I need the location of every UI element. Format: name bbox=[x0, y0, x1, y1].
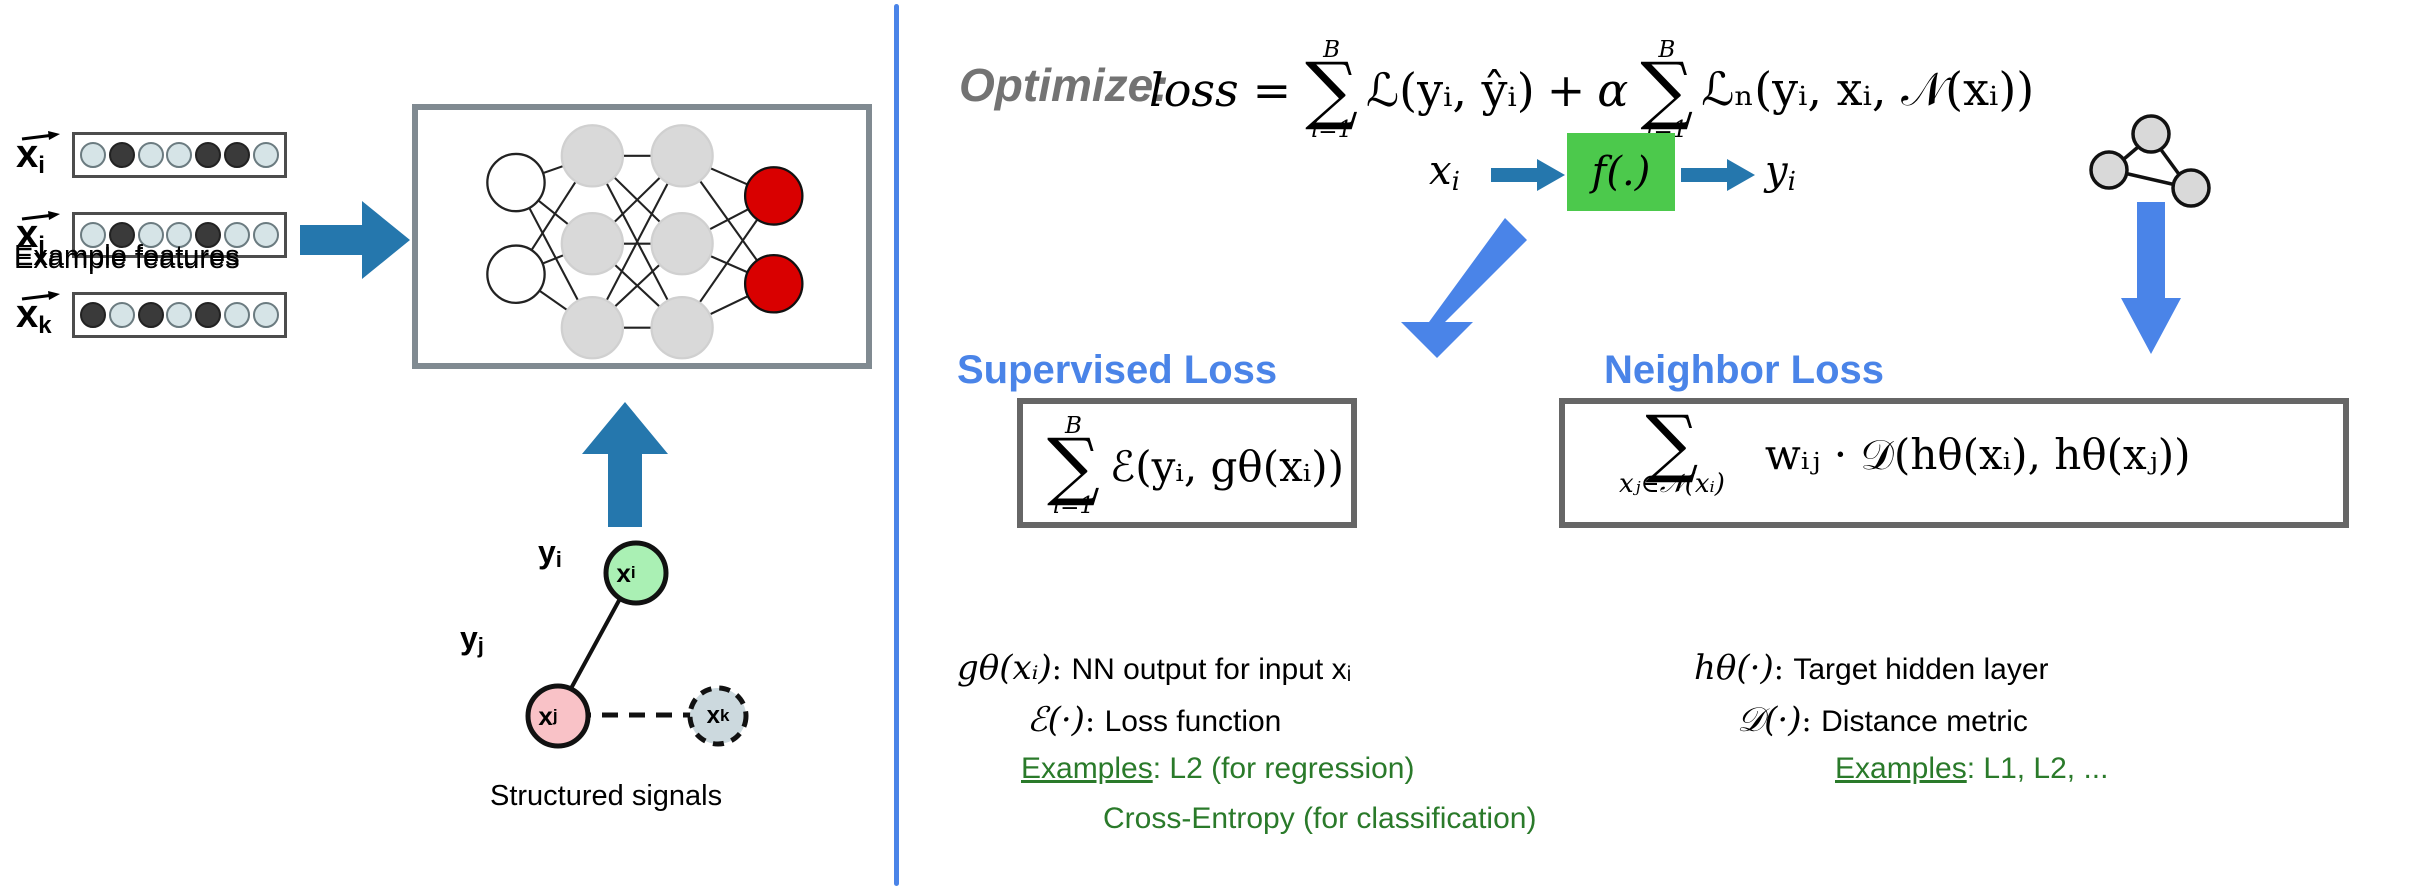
supervised-legend-text-1: NN output for input xᵢ bbox=[1071, 653, 1351, 686]
feature-cell bbox=[109, 142, 135, 168]
neighbor-examples-label: Examples bbox=[1835, 752, 1967, 785]
main-loss-equation: loss = B ∑ i=1 ℒ(yᵢ, ŷᵢ) + α B ∑ i=1 ℒₙ(… bbox=[1149, 40, 2034, 141]
feature-vector-symbol-i: xi bbox=[16, 134, 45, 178]
graph-node-subscript-j: j bbox=[553, 706, 558, 726]
f-function-box: f(.) bbox=[1567, 133, 1675, 211]
summation-1-lower: i=1 bbox=[1311, 120, 1352, 141]
feature-cell bbox=[253, 222, 279, 248]
feature-vector-symbol-k: xk bbox=[16, 294, 52, 338]
graph-node-subscript-i: i bbox=[631, 563, 636, 583]
graph-node-label-xk: xk bbox=[690, 688, 746, 744]
feature-vector-cells-i bbox=[72, 132, 287, 178]
structured-signals-caption: Structured signals bbox=[490, 780, 722, 813]
supervised-legend-colon-1: : bbox=[1052, 652, 1062, 687]
feature-cell bbox=[109, 302, 135, 328]
supervised-loss-box: B ∑ i=1 ℰ(yᵢ, gθ(xᵢ)) bbox=[1017, 398, 1357, 528]
pipeline-output-label: yi bbox=[1765, 148, 1796, 197]
supervised-sum-lower: i=1 bbox=[1053, 496, 1094, 517]
triangle-graph-icon bbox=[2089, 108, 2219, 208]
optimize-label: Optimize: bbox=[959, 58, 1169, 112]
nn-hidden-node bbox=[562, 297, 623, 358]
feature-cell bbox=[253, 142, 279, 168]
nn-input-node bbox=[487, 246, 544, 303]
supervised-sum-sigma: ∑ bbox=[1047, 437, 1100, 496]
pipeline-output-sub: i bbox=[1788, 167, 1796, 197]
f-function-label: f(.) bbox=[1592, 149, 1651, 195]
neighbor-loss-arrow-icon bbox=[2121, 202, 2181, 354]
nn-output-node bbox=[745, 167, 802, 224]
supervised-examples-line-1: Examples: L2 (for regression) bbox=[1021, 752, 1415, 786]
loss-lhs: loss bbox=[1149, 63, 1239, 117]
feature-cell bbox=[166, 142, 192, 168]
nn-hidden-node bbox=[652, 213, 713, 274]
left-panel: xi xj bbox=[0, 0, 895, 890]
pipeline-input-base: x bbox=[1429, 148, 1452, 194]
nn-hidden-node bbox=[562, 213, 623, 274]
features-to-network-arrow-icon bbox=[300, 195, 410, 285]
neural-network-box bbox=[412, 104, 872, 369]
equals-sign: = bbox=[1253, 63, 1292, 117]
pipeline-output-base: y bbox=[1765, 148, 1788, 194]
example-features-caption-visible: Example features bbox=[14, 243, 240, 276]
neighbor-legend-text-2: Distance metric bbox=[1821, 705, 2028, 738]
summation-1-sigma: ∑ bbox=[1305, 61, 1358, 120]
nn-hidden-node bbox=[652, 297, 713, 358]
feature-vector-subscript-k: k bbox=[38, 312, 51, 339]
supervised-examples-text-1: : L2 (for regression) bbox=[1153, 752, 1415, 785]
pipeline-input-sub: i bbox=[1452, 167, 1460, 197]
feature-vector-label-k: xk bbox=[8, 286, 68, 352]
graph-node-label-xi: xi bbox=[596, 543, 656, 603]
neighbor-sum-lower: xⱼ∈𝒩(xᵢ) bbox=[1619, 473, 1725, 496]
summation-2-sigma: ∑ bbox=[1640, 61, 1693, 120]
feature-cell bbox=[224, 142, 250, 168]
neighbor-loss-box: ∑ xⱼ∈𝒩(xᵢ) wᵢⱼ · 𝒟(hθ(xᵢ), hθ(xⱼ)) bbox=[1559, 398, 2349, 528]
supervised-loss-heading: Supervised Loss bbox=[957, 348, 1277, 393]
neighbor-legend-line-1: hθ(·): Target hidden layer bbox=[1694, 648, 2049, 688]
supervised-loss-equation: B ∑ i=1 ℰ(yᵢ, gθ(xᵢ)) bbox=[1047, 416, 1344, 517]
feature-cell bbox=[138, 142, 164, 168]
neighbor-loss-heading: Neighbor Loss bbox=[1604, 348, 1884, 393]
supervised-loss-arrow-icon bbox=[1387, 218, 1527, 358]
feature-cell bbox=[80, 302, 106, 328]
graph-outer-label-yj: yj bbox=[460, 620, 484, 659]
neighbor-loss-equation: ∑ xⱼ∈𝒩(xᵢ) wᵢⱼ · 𝒟(hθ(xᵢ), hθ(xⱼ)) bbox=[1619, 414, 2191, 497]
neighbor-loss-body: wᵢⱼ · 𝒟(hθ(xᵢ), hθ(xⱼ)) bbox=[1765, 430, 2191, 480]
neural-network-diagram bbox=[418, 110, 866, 363]
feature-cell bbox=[224, 302, 250, 328]
neighbor-legend-symbol-2: 𝒟(·) bbox=[1737, 700, 1801, 740]
supervised-legend-symbol-2: ℰ(·) bbox=[1027, 700, 1085, 740]
pipeline-arrow-in-icon bbox=[1491, 158, 1565, 192]
feature-cell bbox=[80, 142, 106, 168]
summation-1: B ∑ i=1 bbox=[1305, 40, 1358, 141]
graph-node-label-xj: xj bbox=[518, 686, 578, 746]
feature-cell bbox=[138, 302, 164, 328]
feature-cell bbox=[195, 302, 221, 328]
supervised-examples-label: Examples bbox=[1021, 752, 1153, 785]
main-term-2: ℒₙ(yᵢ, xᵢ, 𝒩(xᵢ)) bbox=[1701, 62, 2034, 118]
supervised-legend-text-2: Loss function bbox=[1105, 705, 1282, 738]
feature-vector-label-i: xi bbox=[8, 126, 68, 192]
feature-cell bbox=[195, 142, 221, 168]
graph-node-subscript-k: k bbox=[720, 706, 729, 726]
feature-cell bbox=[166, 302, 192, 328]
nn-input-node bbox=[487, 154, 544, 211]
supervised-summation: B ∑ i=1 bbox=[1047, 416, 1100, 517]
supervised-legend-line-2: ℰ(·): Loss function bbox=[1027, 700, 1281, 740]
supervised-legend-colon-2: : bbox=[1085, 704, 1095, 739]
supervised-legend-symbol-1: gθ(xᵢ) bbox=[957, 648, 1052, 688]
neighbor-summation: ∑ xⱼ∈𝒩(xᵢ) bbox=[1619, 414, 1725, 497]
neighbor-examples-line-1: Examples: L1, L2, ... bbox=[1835, 752, 2108, 786]
alpha-symbol: α bbox=[1597, 63, 1628, 117]
summation-2: B ∑ i=1 bbox=[1640, 40, 1693, 141]
pipeline-input-label: xi bbox=[1429, 148, 1460, 197]
neighbor-legend-symbol-1: hθ(·) bbox=[1694, 648, 1774, 688]
pipeline-arrow-out-icon bbox=[1681, 158, 1755, 192]
nn-hidden-node bbox=[562, 125, 623, 186]
supervised-loss-body: ℰ(yᵢ, gθ(xᵢ)) bbox=[1110, 442, 1344, 491]
neighbor-legend-colon-1: : bbox=[1774, 652, 1784, 687]
neighbor-sum-sigma: ∑ bbox=[1646, 414, 1699, 473]
main-term-1: ℒ(yᵢ, ŷᵢ) bbox=[1366, 63, 1535, 117]
neighbor-legend-colon-2: : bbox=[1801, 704, 1811, 739]
feature-vector-subscript-i: i bbox=[38, 152, 45, 179]
nn-output-node bbox=[745, 255, 802, 312]
feature-cell bbox=[253, 302, 279, 328]
right-panel: Optimize: loss = B ∑ i=1 ℒ(yᵢ, ŷᵢ) + α B… bbox=[899, 0, 2412, 890]
nn-hidden-node bbox=[652, 125, 713, 186]
supervised-examples-line-2: Cross-Entropy (for classification) bbox=[1103, 802, 1536, 836]
supervised-legend-line-1: gθ(xᵢ): NN output for input xᵢ bbox=[957, 648, 1351, 688]
feature-vector-cells-k bbox=[72, 292, 287, 338]
graph-outer-label-yi: yi bbox=[538, 534, 562, 573]
plus-sign: + bbox=[1547, 63, 1586, 117]
neighbor-legend-text-1: Target hidden layer bbox=[1793, 653, 2048, 686]
neighbor-examples-text-1: : L1, L2, ... bbox=[1967, 752, 2109, 785]
neighbor-legend-line-2: 𝒟(·): Distance metric bbox=[1737, 700, 2028, 740]
